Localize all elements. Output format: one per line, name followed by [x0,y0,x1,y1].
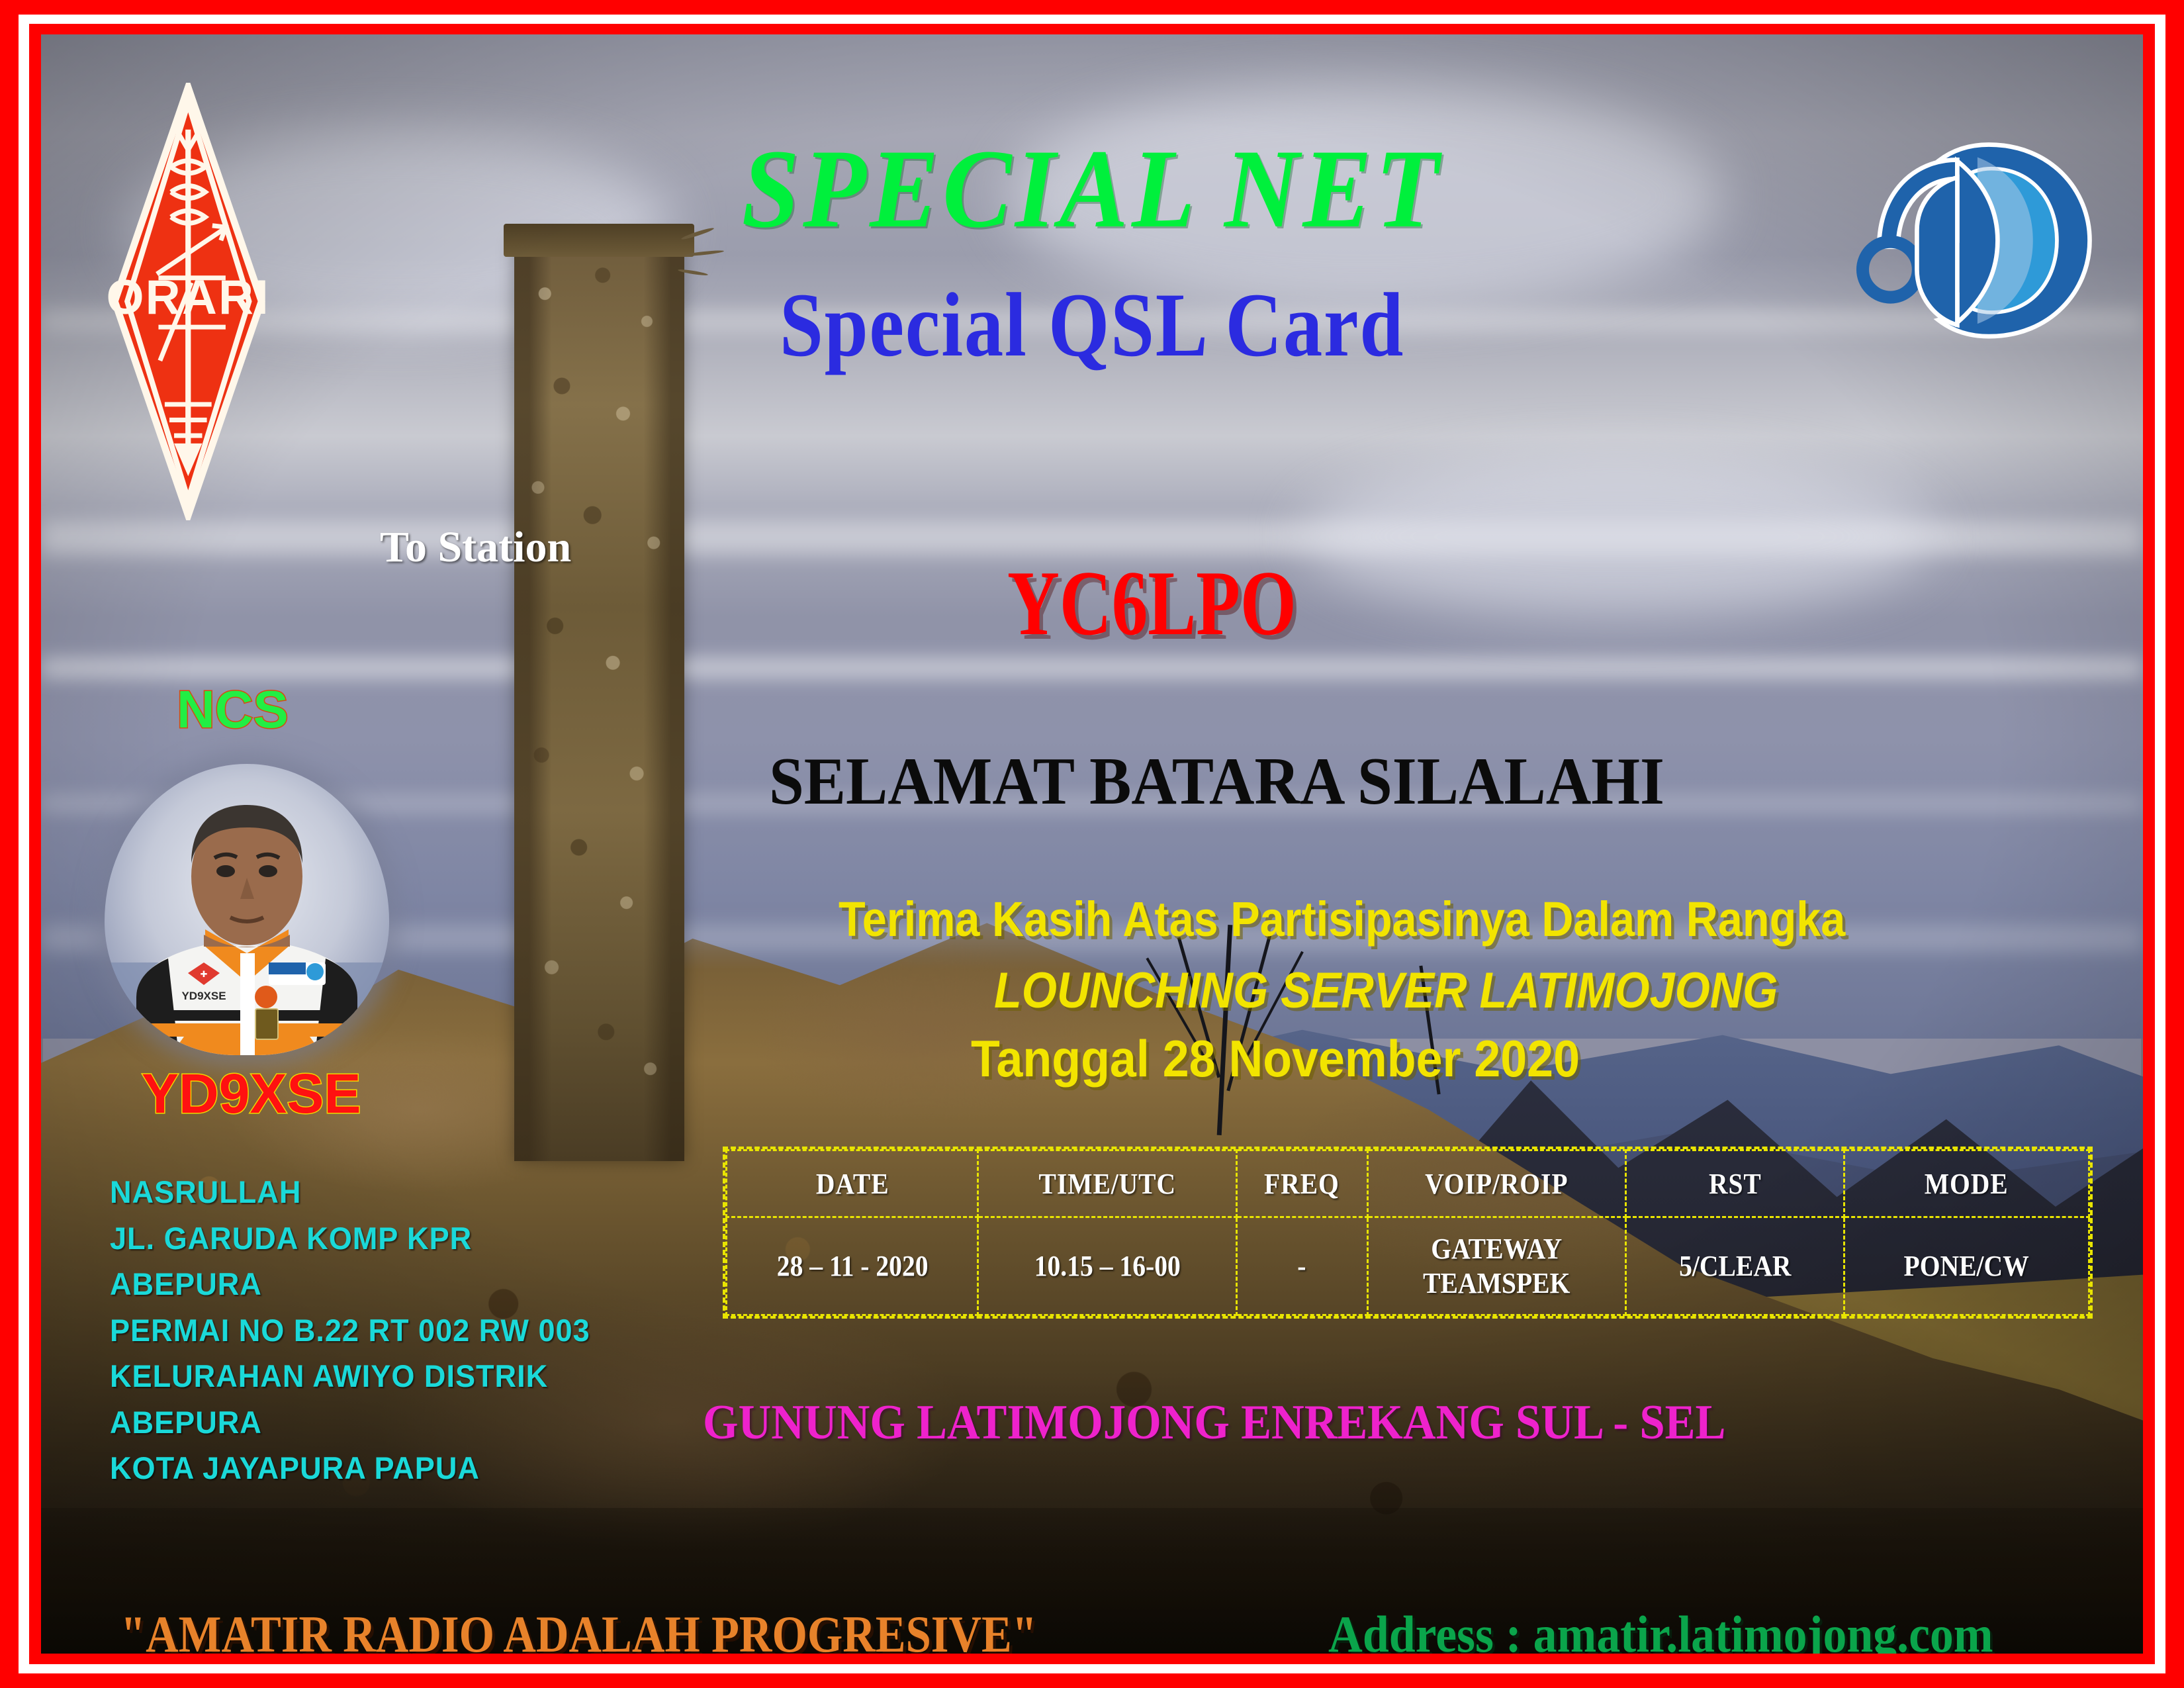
ncs-badge-label: NCS [177,683,289,736]
thanks-line-2-event: LOUNCHING SERVER LATIMOJONG [994,966,1778,1016]
table-header-row: DATE TIME/UTC FREQ VOIP/ROIP RST MODE [727,1150,2089,1217]
cell-time-utc: 10.15 – 16-00 [991,1217,1223,1315]
cell-date: 28 – 11 - 2020 [739,1217,966,1315]
table-row: 28 – 11 - 2020 10.15 – 16-00 - GATEWAY T… [727,1217,2089,1315]
column-header-mode: MODE [1856,1150,2077,1217]
cell-voip-roip-line2: TEAMSPEK [1382,1266,1612,1301]
address-line: PERMAI NO B.22 RT 002 RW 003 [110,1307,590,1354]
column-header-date: DATE [739,1150,966,1217]
column-header-voip-roip: VOIP/ROIP [1381,1150,1613,1217]
column-header-rst: RST [1637,1150,1833,1217]
address-line: NASRULLAH [110,1169,590,1215]
qsl-card: ORARI SPECIAL NET Special QSL Card To St [0,0,2184,1688]
thanks-line-1: Terima Kasih Atas Partisipasinya Dalam R… [839,895,1845,944]
qso-log-table: DATE TIME/UTC FREQ VOIP/ROIP RST MODE 28… [723,1147,2093,1319]
cell-rst: 5/CLEAR [1637,1217,1833,1315]
card-photo-area: ORARI SPECIAL NET Special QSL Card To St [41,34,2143,1654]
page-title-special-net: SPECIAL NET [125,132,2059,245]
ncs-address-block: NASRULLAH JL. GARUDA KOMP KPR ABEPURA PE… [110,1169,590,1491]
ncs-operator-callsign: YD9XSE [142,1066,361,1121]
page-subtitle-special-qsl-card: Special QSL Card [188,279,1995,371]
cell-voip-roip: GATEWAY TEAMSPEK [1381,1217,1613,1315]
to-station-label: To Station [380,526,571,569]
column-header-freq: FREQ [1243,1150,1361,1217]
address-line: JL. GARUDA KOMP KPR [110,1215,590,1262]
column-header-time-utc: TIME/UTC [991,1150,1223,1217]
address-line: KELURAHAN AWIYO DISTRIK [110,1353,590,1399]
footer-motto: "AMATIR RADIO ADALAH PROGRESIVE" [120,1609,1037,1654]
address-line: KOTA JAYAPURA PAPUA [110,1445,590,1491]
recipient-operator-name: SELAMAT BATARA SILALAHI [769,748,1664,816]
cell-voip-roip-line1: GATEWAY [1382,1232,1612,1266]
cell-mode: PONE/CW [1856,1217,2077,1315]
location-caption: GUNUNG LATIMOJONG ENREKANG SUL - SEL [703,1398,1725,1447]
thanks-line-3-date: Tanggal 28 November 2020 [971,1033,1580,1084]
address-line: ABEPURA [110,1399,590,1446]
cell-freq: - [1243,1217,1361,1315]
footer-web-address: Address : amatir.latimojong.com [1328,1609,1993,1654]
recipient-callsign: YC6LPO [1007,557,1297,650]
svg-text:✚: ✚ [201,969,208,979]
svg-text:YD9XSE: YD9XSE [181,990,226,1002]
address-line: ABEPURA [110,1261,590,1307]
